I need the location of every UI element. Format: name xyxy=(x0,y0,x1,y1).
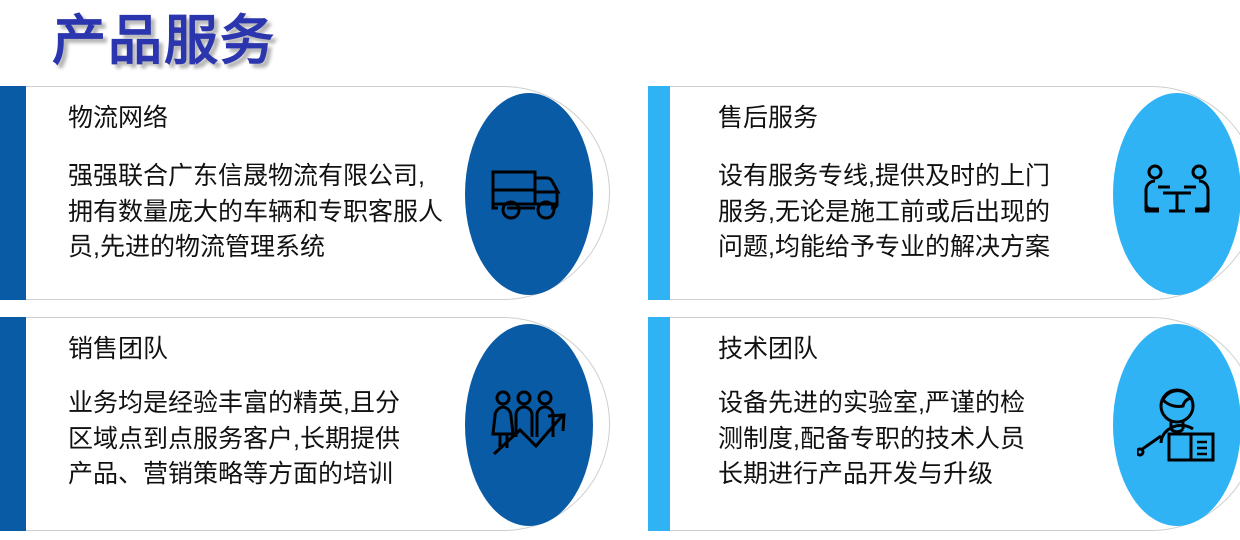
card-title: 售后服务 xyxy=(718,103,1107,133)
service-card-after-sales-service[interactable]: 售后服务 设有服务专线,提供及时的上门 服务,无论是施工前或后出现的 问题,均能… xyxy=(648,86,1240,300)
service-card-technical-team[interactable]: 技术团队 设备先进的实验室,严谨的检 测制度,配备专职的技术人员 长期进行产品开… xyxy=(648,317,1240,531)
card-icon-medallion xyxy=(465,93,593,295)
card-title: 销售团队 xyxy=(68,334,459,364)
page-title: 产品服务 xyxy=(52,14,276,68)
delivery-truck-icon xyxy=(490,166,568,222)
card-body: 售后服务 设有服务专线,提供及时的上门 服务,无论是施工前或后出现的 问题,均能… xyxy=(670,86,1240,300)
service-card-grid: 物流网络 强强联合广东信晟物流有限公司, 拥有数量庞大的车辆和专职客服人 员,先… xyxy=(0,86,1240,540)
card-icon-medallion xyxy=(1113,324,1240,526)
card-accent-bar xyxy=(0,86,26,300)
instructor-book-icon xyxy=(1137,388,1217,462)
card-icon-medallion xyxy=(1113,93,1240,295)
card-description: 设备先进的实验室,严谨的检 测制度,配备专职的技术人员 长期进行产品开发与升级 xyxy=(718,386,1107,493)
card-description: 强强联合广东信晟物流有限公司, 拥有数量庞大的车辆和专职客服人 员,先进的物流管… xyxy=(68,159,459,266)
card-title: 物流网络 xyxy=(68,103,459,133)
service-card-logistics-network[interactable]: 物流网络 强强联合广东信晟物流有限公司, 拥有数量庞大的车辆和专职客服人 员,先… xyxy=(0,86,610,300)
card-accent-bar xyxy=(0,317,26,531)
card-title: 技术团队 xyxy=(718,334,1107,364)
card-text-block: 销售团队 业务均是经验丰富的精英,且分 区域点到点服务客户,长期提供 产品、营销… xyxy=(68,334,459,493)
card-accent-bar xyxy=(648,317,670,531)
card-body: 技术团队 设备先进的实验室,严谨的检 测制度,配备专职的技术人员 长期进行产品开… xyxy=(670,317,1240,531)
card-description: 业务均是经验丰富的精英,且分 区域点到点服务客户,长期提供 产品、营销策略等方面… xyxy=(68,386,459,493)
card-accent-bar xyxy=(648,86,670,300)
service-card-sales-team[interactable]: 销售团队 业务均是经验丰富的精英,且分 区域点到点服务客户,长期提供 产品、营销… xyxy=(0,317,610,531)
card-text-block: 售后服务 设有服务专线,提供及时的上门 服务,无论是施工前或后出现的 问题,均能… xyxy=(718,103,1107,266)
card-text-block: 技术团队 设备先进的实验室,严谨的检 测制度,配备专职的技术人员 长期进行产品开… xyxy=(718,334,1107,493)
card-body: 销售团队 业务均是经验丰富的精英,且分 区域点到点服务客户,长期提供 产品、营销… xyxy=(26,317,610,531)
team-growth-icon xyxy=(488,390,570,460)
meeting-table-icon xyxy=(1139,163,1215,225)
card-body: 物流网络 强强联合广东信晟物流有限公司, 拥有数量庞大的车辆和专职客服人 员,先… xyxy=(26,86,610,300)
card-text-block: 物流网络 强强联合广东信晟物流有限公司, 拥有数量庞大的车辆和专职客服人 员,先… xyxy=(68,103,459,266)
card-description: 设有服务专线,提供及时的上门 服务,无论是施工前或后出现的 问题,均能给予专业的… xyxy=(718,159,1107,266)
card-icon-medallion xyxy=(465,324,593,526)
